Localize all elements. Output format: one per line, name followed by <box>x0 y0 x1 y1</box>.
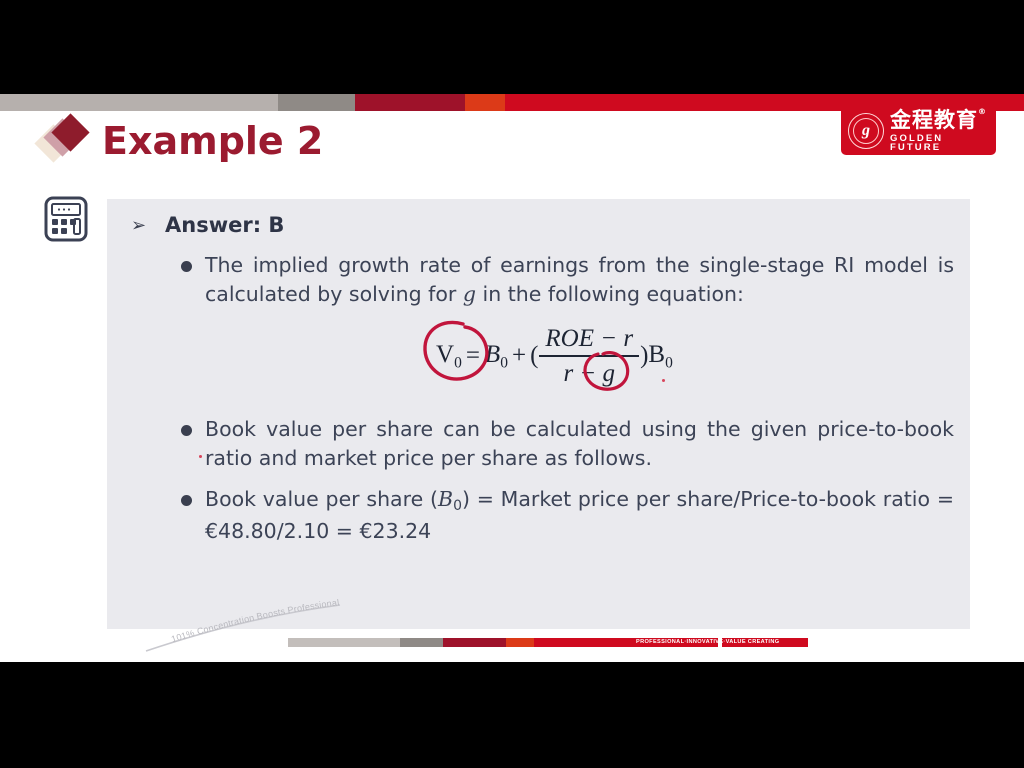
top-rule-segment-3 <box>465 94 505 111</box>
bullet-text-implied-growth: The implied growth rate of earnings from… <box>205 251 954 309</box>
page-title: Example 2 <box>102 119 323 163</box>
logo-seal-glyph: g <box>853 118 879 144</box>
slide-title-row: Example 2 <box>40 112 323 170</box>
formula-lhs-sub: 0 <box>454 354 462 371</box>
formula-b0-sub: 0 <box>500 354 508 371</box>
top-rule-segment-1 <box>278 94 355 111</box>
diamond-bullet-icon <box>40 118 98 164</box>
bullet-dot-icon <box>181 425 192 436</box>
formula-open-paren: ( <box>530 342 538 370</box>
list-item: Book value per share (B0) = Market price… <box>181 485 954 546</box>
footer-tagline: PROFESSIONAL·INNOVATIVE·VALUE CREATING <box>636 637 779 648</box>
letterbox-bottom <box>0 662 1024 768</box>
formula-fraction: ROE − r r − g <box>539 325 639 388</box>
bottom-rule-segment-0 <box>288 638 400 647</box>
logo-english-name: GOLDEN FUTURE <box>890 134 996 153</box>
answer-label: Answer: B <box>165 213 284 237</box>
list-item: The implied growth rate of earnings from… <box>181 251 954 309</box>
list-item: Book value per share can be calculated u… <box>181 415 954 473</box>
video-frame: g 金程教育® GOLDEN FUTURE Example 2 <box>0 0 1024 768</box>
logo-chinese-text: 金程教育 <box>890 108 978 132</box>
brand-logo-badge: g 金程教育® GOLDEN FUTURE <box>841 107 996 155</box>
presentation-slide: g 金程教育® GOLDEN FUTURE Example 2 <box>0 94 1024 662</box>
arrow-bullet-icon: ➢ <box>131 216 151 234</box>
logo-text: 金程教育® GOLDEN FUTURE <box>890 110 996 153</box>
residual-income-formula: V0 = B0 + ( ROE − r r − g ) B0 <box>436 325 673 388</box>
logo-chinese-name: 金程教育® <box>890 110 978 131</box>
logo-seal-icon: g <box>848 113 884 149</box>
formula-equals: = <box>466 342 480 370</box>
calculator-icon <box>44 196 88 242</box>
formula-close-paren: ) <box>640 342 648 370</box>
bottom-rule-segment-1 <box>400 638 443 647</box>
bullet-dot-icon <box>181 261 192 272</box>
letterbox-top <box>0 0 1024 94</box>
formula-plus: + <box>512 342 526 370</box>
bottom-rule-segment-3 <box>506 638 534 647</box>
logo-registered-mark: ® <box>978 108 987 116</box>
top-rule-segment-0 <box>0 94 278 111</box>
annotation-ink-dot <box>199 455 202 458</box>
bullet-dot-icon <box>181 495 192 506</box>
top-rule-segment-2 <box>355 94 465 111</box>
content-panel: ➢ Answer: B The implied growth rate of e… <box>107 199 970 629</box>
formula-denominator: r − g <box>557 357 621 388</box>
bullet-text-book-value-calc: Book value per share (B0) = Market price… <box>205 485 954 546</box>
bottom-rule-segment-2 <box>443 638 506 647</box>
formula-rhs-b0-sub: 0 <box>665 354 673 371</box>
footer-watermark: 101% Concentration Boosts Professionalis… <box>140 599 370 657</box>
formula-area: V0 = B0 + ( ROE − r r − g ) B0 <box>123 319 954 397</box>
answer-row: ➢ Answer: B <box>131 213 954 237</box>
bullet-text-book-value-method: Book value per share can be calculated u… <box>205 415 954 473</box>
formula-rhs-b0: B0 <box>648 341 672 372</box>
formula-numerator: ROE − r <box>539 325 639 355</box>
formula-b0: B0 <box>485 341 508 372</box>
formula-lhs: V0 <box>436 341 462 372</box>
